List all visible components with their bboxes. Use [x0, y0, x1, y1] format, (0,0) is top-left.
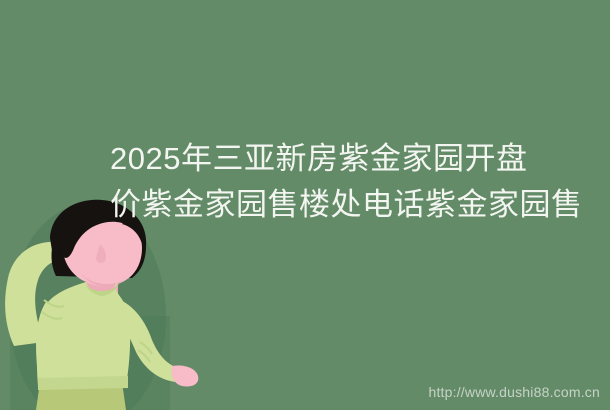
watermark-url: http://www.dushi88.com.cn	[428, 384, 600, 400]
raised-arm-shape	[5, 242, 76, 346]
hair-sideburn-shape	[52, 236, 71, 276]
article-cover-image: 2025年三亚新房紫金家园开盘 价紫金家园售楼处电话紫金家园售 http://w…	[0, 0, 610, 410]
sleeve-fold-2	[42, 312, 62, 319]
sleeve-fold-1	[44, 300, 64, 307]
right-hand-shape	[171, 365, 198, 386]
trousers-shape	[36, 382, 126, 410]
headline-line-2: 价紫金家园售楼处电话紫金家园售	[110, 182, 610, 228]
headline-line-1: 2025年三亚新房紫金家园开盘	[110, 136, 610, 182]
extended-arm-shape	[116, 300, 178, 382]
chin-shade-shape	[78, 270, 124, 287]
neck-shadow-shape	[86, 260, 118, 284]
sweater-hem-shape	[38, 376, 128, 390]
nose-shape	[96, 244, 106, 263]
arm-elbow-fold	[140, 342, 152, 354]
sweater-body-shape	[37, 282, 130, 386]
sweater-collar-shape	[84, 282, 120, 296]
arm-elbow-fold-2	[138, 350, 150, 362]
figure-shadow	[10, 204, 170, 410]
page-title: 2025年三亚新房紫金家园开盘 价紫金家园售楼处电话紫金家园售	[110, 136, 610, 228]
raised-sleeve-shape	[36, 300, 72, 386]
person-illustration	[0, 196, 200, 410]
neck-shape	[86, 260, 118, 294]
person-scratching-head-graphic	[0, 196, 200, 410]
